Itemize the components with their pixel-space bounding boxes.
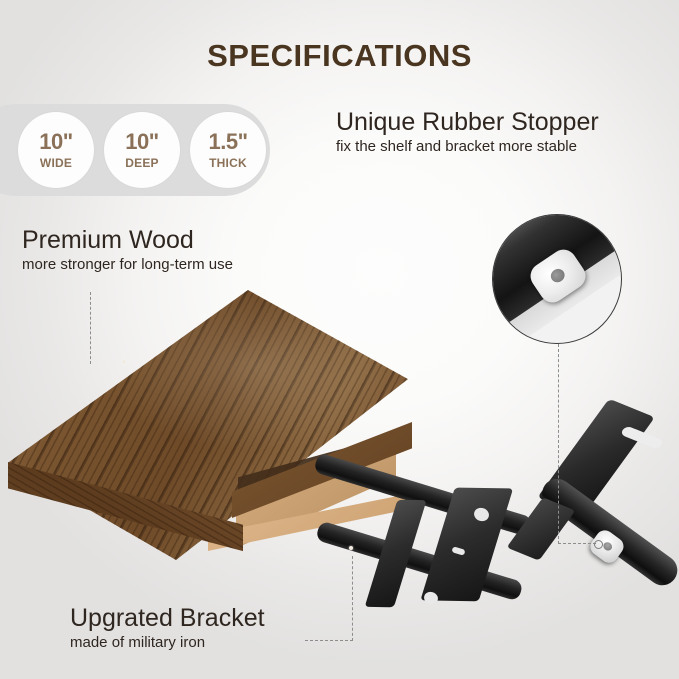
badge-thickness-label: THICK	[209, 157, 247, 169]
badge-depth-label: DEEP	[125, 157, 158, 169]
magnified-detail-circle	[492, 214, 622, 344]
bracket-rivet-dot	[349, 546, 353, 550]
badge-depth-value: 10"	[125, 131, 158, 153]
leader-stopper-marker	[594, 540, 603, 549]
badge-depth: 10" DEEP	[104, 112, 180, 188]
page-title: SPECIFICATIONS	[0, 38, 679, 74]
badge-width-value: 10"	[39, 131, 72, 153]
badge-width: 10" WIDE	[18, 112, 94, 188]
leader-stopper-horizontal	[558, 543, 596, 544]
badge-thickness-value: 1.5"	[208, 131, 247, 153]
specifications-infographic: SPECIFICATIONS 10" WIDE 10" DEEP 1.5" TH…	[0, 0, 679, 679]
badge-thickness: 1.5" THICK	[190, 112, 266, 188]
callout-premium-wood-subtitle: more stronger for long-term use	[22, 256, 233, 275]
badge-width-label: WIDE	[40, 157, 72, 169]
callout-rubber-stopper-subtitle: fix the shelf and bracket more stable	[336, 138, 599, 157]
leader-premium-wood	[90, 292, 91, 364]
leader-bracket-vertical	[352, 556, 353, 641]
callout-upgrated-bracket-subtitle: made of military iron	[70, 634, 265, 653]
callout-premium-wood: Premium Wood more stronger for long-term…	[22, 226, 233, 275]
callout-premium-wood-heading: Premium Wood	[22, 226, 233, 254]
callout-rubber-stopper: Unique Rubber Stopper fix the shelf and …	[336, 108, 599, 157]
shelf-nail-dot	[122, 360, 126, 364]
leader-stopper-vertical	[558, 344, 559, 544]
leader-bracket-horizontal	[305, 640, 353, 641]
dimension-badge-row: 10" WIDE 10" DEEP 1.5" THICK	[18, 108, 268, 192]
callout-rubber-stopper-heading: Unique Rubber Stopper	[336, 108, 599, 136]
